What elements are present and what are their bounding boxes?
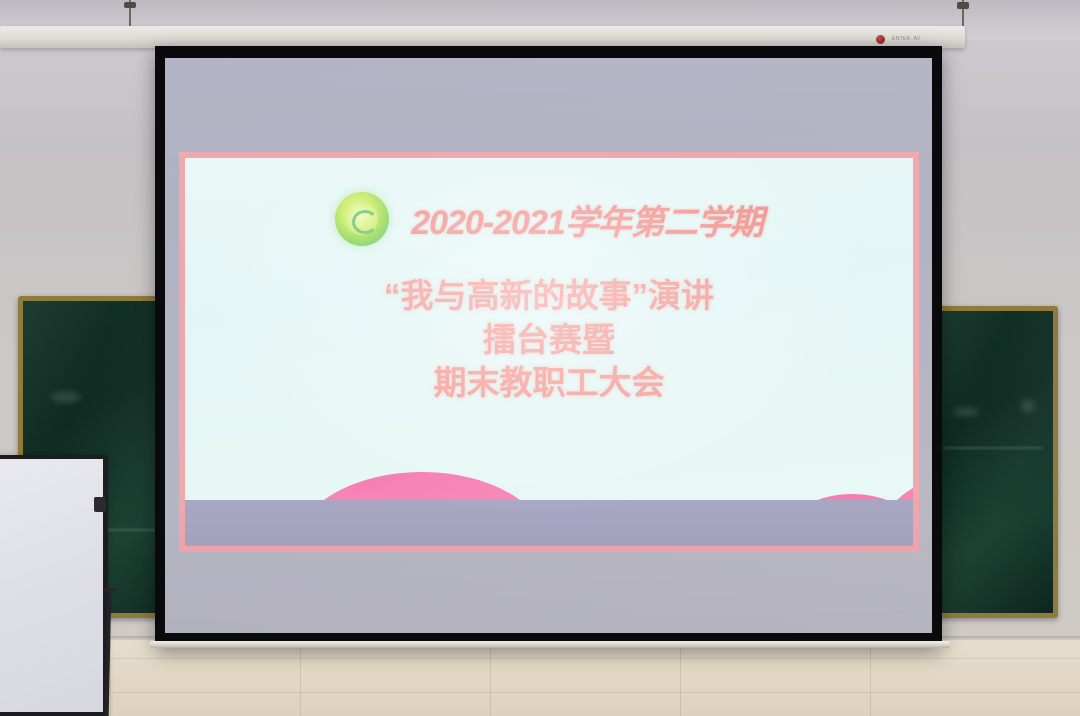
power-led-icon xyxy=(876,35,885,44)
whiteboard xyxy=(0,455,108,716)
mount-bracket-left xyxy=(124,2,136,8)
slide-ground-band xyxy=(185,500,913,546)
slide-title-line-2: 擂台赛暨 xyxy=(185,318,913,362)
projector-screen-housing[interactable]: ENTER. AV xyxy=(0,26,965,48)
slide-inner: 2020-2021学年第二学期 “我与高新的故事”演讲 擂台赛暨 期末教职工大会 xyxy=(185,158,913,546)
screen-surface: 2020-2021学年第二学期 “我与高新的故事”演讲 擂台赛暨 期末教职工大会 xyxy=(165,58,932,633)
slide-title-line-3: 期末教职工大会 xyxy=(185,361,913,405)
projector-screen: 2020-2021学年第二学期 “我与高新的故事”演讲 擂台赛暨 期末教职工大会 xyxy=(155,46,942,647)
screen-weight-bar xyxy=(150,641,950,648)
blackboard-right xyxy=(930,306,1058,618)
classroom-scene: ENTER. AV 2020-2021学年第二学期 “我与高新的故事”演讲 擂台… xyxy=(0,0,1080,716)
presentation-slide: 2020-2021学年第二学期 “我与高新的故事”演讲 擂台赛暨 期末教职工大会 xyxy=(179,152,919,552)
whiteboard-clip-icon xyxy=(94,497,106,512)
mount-bracket-right xyxy=(957,2,969,9)
housing-label: ENTER. AV xyxy=(892,34,948,45)
slide-title-line-1: “我与高新的故事”演讲 xyxy=(185,274,913,318)
school-emblem-icon xyxy=(335,192,389,246)
slide-title: “我与高新的故事”演讲 擂台赛暨 期末教职工大会 xyxy=(185,274,913,405)
wall-lower-tiles xyxy=(0,640,1080,716)
slide-decoration-hills xyxy=(185,454,913,546)
slide-year-line: 2020-2021学年第二学期 xyxy=(411,195,763,244)
slide-header: 2020-2021学年第二学期 xyxy=(185,192,913,246)
